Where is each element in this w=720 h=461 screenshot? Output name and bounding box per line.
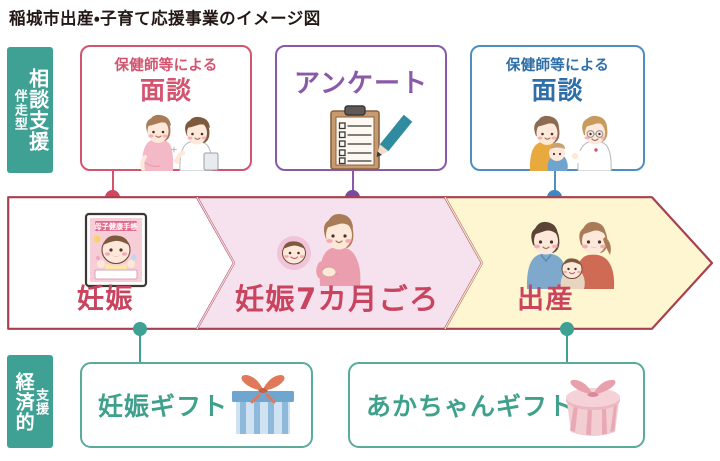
card-interview-1-line1: 保健師等による [82, 59, 250, 74]
card-interview-2-heading: 保健師等による 面談 [472, 59, 643, 103]
card-survey-line1: アンケート [277, 71, 445, 97]
timeline-label-pregnancy: 妊娠 [77, 286, 134, 313]
page-title: 稲城市出産・子育て応援事業のイメージ図 [9, 5, 321, 29]
infographic-canvas: 稲城市出産・子育て応援事業のイメージ図 相談支援 伴走型 支援 経済的 保健師等… [0, 0, 720, 461]
card-gift-pregnancy-label: 妊娠ギフト [98, 387, 228, 423]
handbook-title: 母子健康手帳 [94, 222, 138, 231]
card-interview-2[interactable]: 保健師等による 面談 [470, 45, 645, 171]
timeline-label-7month: 妊娠7カ月ごろ [235, 285, 440, 314]
illustration-two-women-pregnant-and-nurse [112, 109, 227, 171]
side-label-counselling-small: 伴走型 [12, 89, 26, 131]
card-interview-1-line2: 面談 [82, 78, 250, 103]
card-gift-baby[interactable]: あかちゃんギフト [348, 362, 645, 448]
illustration-maternal-health-handbook: 母子健康手帳 [84, 212, 148, 288]
illustration-pregnant-woman-with-baby-bubble [274, 206, 366, 286]
card-interview-2-line2: 面談 [472, 78, 643, 103]
illustration-clipboard-with-pen [315, 105, 415, 171]
side-label-economic-small: 支援 [34, 388, 48, 416]
card-interview-1[interactable]: 保健師等による 面談 [80, 45, 252, 171]
card-gift-baby-label: あかちゃんギフト [366, 387, 574, 423]
side-label-economic-large: 経済的 [13, 372, 33, 432]
card-survey[interactable]: アンケート [275, 45, 447, 171]
card-interview-1-heading: 保健師等による 面談 [82, 59, 250, 103]
connector-gift-pregnancy [139, 329, 141, 363]
card-survey-heading: アンケート [277, 71, 445, 97]
illustration-blue-striped-gift-box [229, 374, 297, 436]
side-label-counselling-support: 相談支援 伴走型 [7, 47, 53, 173]
side-label-counselling-large: 相談支援 [27, 68, 48, 152]
side-label-economic-support: 支援 経済的 [7, 355, 53, 448]
timeline-label-birth: 出産 [517, 286, 574, 313]
illustration-pink-round-gift-box [557, 374, 629, 436]
card-gift-pregnancy[interactable]: 妊娠ギフト [80, 362, 313, 448]
illustration-mother-with-baby-and-nurse [502, 109, 620, 171]
connector-gift-baby [566, 329, 568, 363]
card-interview-2-line1: 保健師等による [472, 59, 643, 74]
illustration-family-father-mother-newborn [519, 211, 619, 289]
